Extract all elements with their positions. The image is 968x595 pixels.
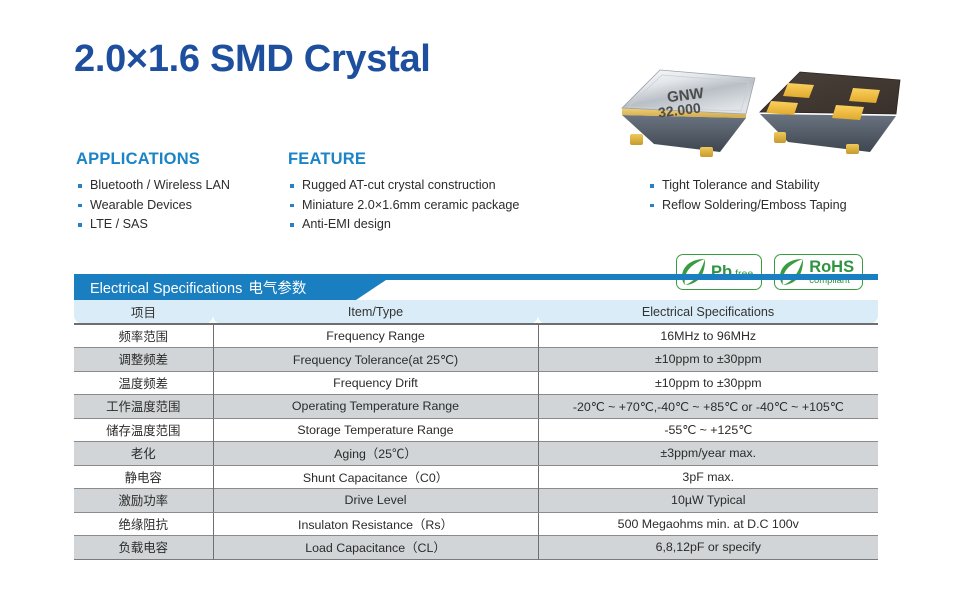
- list-item: Reflow Soldering/Emboss Taping: [648, 196, 948, 216]
- cell-item-cn: 工作温度范围: [74, 395, 213, 419]
- table-row: 调整频差 Frequency Tolerance(at 25℃) ±10ppm …: [74, 348, 878, 372]
- cell-item-type: Frequency Tolerance(at 25℃): [213, 348, 538, 372]
- cell-item-type: Frequency Range: [213, 324, 538, 348]
- list-item: Wearable Devices: [76, 196, 281, 216]
- table-row: 绝缘阻抗 Insulaton Resistance（Rs） 500 Megaoh…: [74, 512, 878, 536]
- cell-spec-value: -20℃ ~ +70℃,-40℃ ~ +85℃ or -40℃ ~ +105℃: [538, 395, 878, 419]
- cell-item-cn: 负载电容: [74, 536, 213, 560]
- table-body: 频率范围 Frequency Range 16MHz to 96MHz 调整频差…: [74, 324, 878, 559]
- extra-features-list: Tight Tolerance and Stability Reflow Sol…: [648, 176, 948, 215]
- table-row: 负载电容 Load Capacitance（CL） 6,8,12pF or sp…: [74, 536, 878, 560]
- applications-heading: APPLICATIONS: [76, 150, 200, 169]
- banner-label: Electrical Specifications电气参数: [90, 277, 306, 298]
- list-item: Anti-EMI design: [288, 215, 578, 235]
- page-title: 2.0×1.6 SMD Crystal: [74, 38, 431, 81]
- table-header-row: 项目 Item/Type Electrical Specifications: [74, 300, 878, 324]
- electrical-specifications-table: 项目 Item/Type Electrical Specifications 频…: [74, 300, 878, 560]
- cell-item-cn: 老化: [74, 442, 213, 466]
- list-item: Rugged AT-cut crystal construction: [288, 176, 578, 196]
- cell-item-type: Aging（25℃）: [213, 442, 538, 466]
- table-row: 静电容 Shunt Capacitance（C0） 3pF max.: [74, 465, 878, 489]
- cell-spec-value: 3pF max.: [538, 465, 878, 489]
- banner-label-en: Electrical Specifications: [90, 281, 242, 297]
- column-header-item-type: Item/Type: [213, 300, 538, 324]
- cell-item-cn: 频率范围: [74, 324, 213, 348]
- list-item: Miniature 2.0×1.6mm ceramic package: [288, 196, 578, 216]
- table-row: 频率范围 Frequency Range 16MHz to 96MHz: [74, 324, 878, 348]
- feature-list: Rugged AT-cut crystal construction Minia…: [288, 176, 578, 235]
- crystal-bottom-view: [760, 72, 900, 154]
- cell-spec-value: -55℃ ~ +125℃: [538, 418, 878, 442]
- section-banner: Electrical Specifications电气参数: [74, 274, 878, 300]
- cell-spec-value: 16MHz to 96MHz: [538, 324, 878, 348]
- crystal-package-illustration: GNW 32.000: [608, 52, 908, 164]
- cell-item-cn: 绝缘阻抗: [74, 512, 213, 536]
- table-row: 温度频差 Frequency Drift ±10ppm to ±30ppm: [74, 371, 878, 395]
- list-item: LTE / SAS: [76, 215, 281, 235]
- applications-list: Bluetooth / Wireless LAN Wearable Device…: [76, 176, 281, 235]
- table-row: 老化 Aging（25℃） ±3ppm/year max.: [74, 442, 878, 466]
- banner-label-cn: 电气参数: [248, 281, 306, 297]
- cell-item-type: Drive Level: [213, 489, 538, 513]
- cell-item-cn: 储存温度范围: [74, 418, 213, 442]
- list-item: Bluetooth / Wireless LAN: [76, 176, 281, 196]
- cell-item-type: Insulaton Resistance（Rs）: [213, 512, 538, 536]
- cell-spec-value: 10µW Typical: [538, 489, 878, 513]
- cell-item-type: Load Capacitance（CL）: [213, 536, 538, 560]
- column-header-electrical-specifications: Electrical Specifications: [538, 300, 878, 324]
- list-item: Tight Tolerance and Stability: [648, 176, 948, 196]
- product-image-group: GNW 32.000: [608, 52, 908, 164]
- cell-item-type: Storage Temperature Range: [213, 418, 538, 442]
- cell-item-cn: 激励功率: [74, 489, 213, 513]
- table-row: 储存温度范围 Storage Temperature Range -55℃ ~ …: [74, 418, 878, 442]
- cell-item-cn: 静电容: [74, 465, 213, 489]
- table-row: 工作温度范围 Operating Temperature Range -20℃ …: [74, 395, 878, 419]
- cell-spec-value: ±10ppm to ±30ppm: [538, 371, 878, 395]
- table-row: 激励功率 Drive Level 10µW Typical: [74, 489, 878, 513]
- cell-item-type: Operating Temperature Range: [213, 395, 538, 419]
- feature-heading: FEATURE: [288, 150, 366, 169]
- cell-item-cn: 温度频差: [74, 371, 213, 395]
- cell-item-cn: 调整频差: [74, 348, 213, 372]
- column-header-item-cn: 项目: [74, 300, 213, 324]
- cell-item-type: Shunt Capacitance（C0）: [213, 465, 538, 489]
- cell-item-type: Frequency Drift: [213, 371, 538, 395]
- cell-spec-value: ±3ppm/year max.: [538, 442, 878, 466]
- cell-spec-value: 500 Megaohms min. at D.C 100v: [538, 512, 878, 536]
- cell-spec-value: ±10ppm to ±30ppm: [538, 348, 878, 372]
- cell-spec-value: 6,8,12pF or specify: [538, 536, 878, 560]
- table-header: 项目 Item/Type Electrical Specifications: [74, 300, 878, 324]
- crystal-top-view: GNW 32.000: [622, 70, 755, 157]
